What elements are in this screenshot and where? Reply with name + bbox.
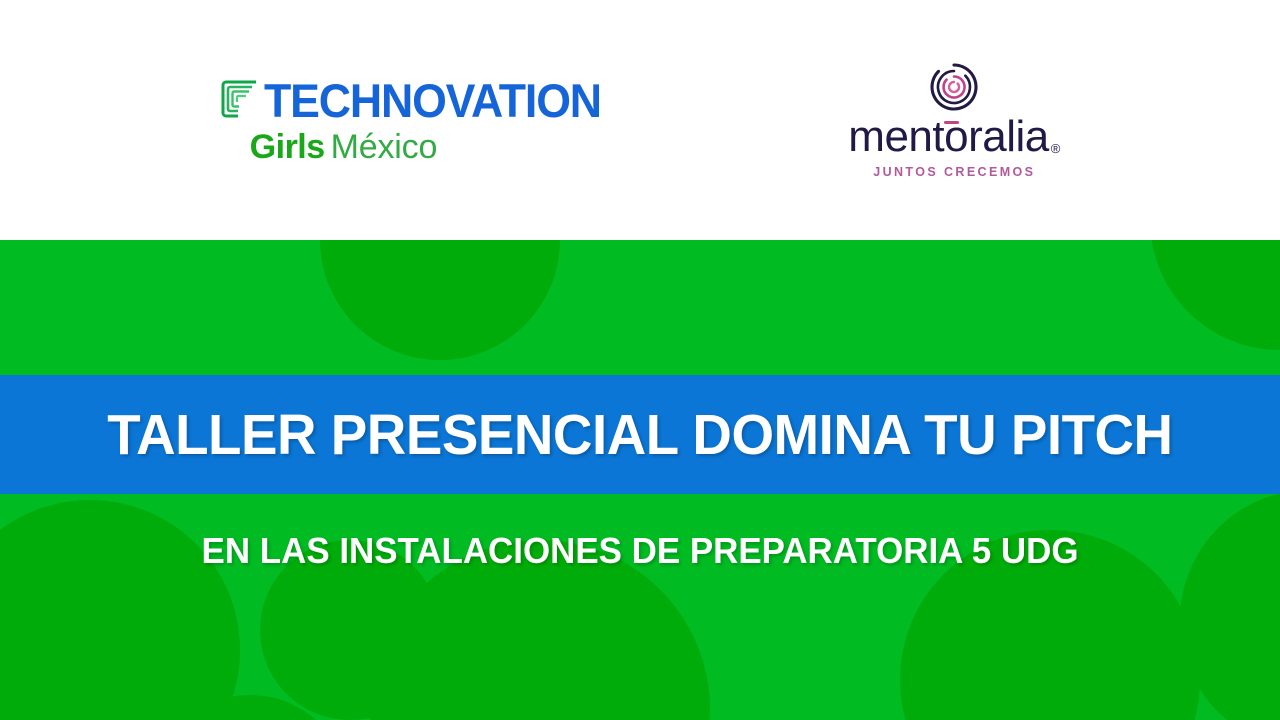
technovation-wordmark: TECHNOVATION [264, 77, 601, 124]
mentoralia-wordmark-row: mentoralia ® [848, 115, 1060, 159]
decor-circle [1150, 240, 1280, 350]
mentoralia-t-crossbar-accent [944, 121, 959, 124]
technovation-girls-label: Girls [250, 130, 325, 164]
mentoralia-tagline: JUNTOS CRECEMOS [873, 166, 1035, 179]
mentoralia-wordmark-text: mentoralia [848, 112, 1048, 161]
title-banner: TALLER PRESENCIAL DOMINA TU PITCH [0, 375, 1280, 494]
registered-trademark-symbol: ® [1051, 142, 1061, 155]
page-title: TALLER PRESENCIAL DOMINA TU PITCH [107, 402, 1172, 468]
poster-canvas: TECHNOVATION Girls México mentoralia [0, 0, 1280, 720]
technovation-logo: TECHNOVATION Girls México [220, 77, 619, 164]
concentric-circle-spiral-icon [928, 61, 980, 113]
page-subtitle: EN LAS INSTALACIONES DE PREPARATORIA 5 U… [202, 530, 1079, 572]
technovation-primary-row: TECHNOVATION [220, 77, 619, 124]
mentoralia-wordmark: mentoralia [848, 115, 1048, 159]
technovation-country-label: México [331, 130, 438, 164]
logo-header: TECHNOVATION Girls México mentoralia [0, 0, 1280, 240]
technovation-secondary-row: Girls México [250, 130, 437, 164]
mentoralia-logo: mentoralia ® JUNTOS CRECEMOS [848, 61, 1060, 179]
subtitle-area: EN LAS INSTALACIONES DE PREPARATORIA 5 U… [0, 520, 1280, 582]
nested-square-spiral-icon [220, 79, 260, 119]
decor-circle [320, 240, 560, 360]
